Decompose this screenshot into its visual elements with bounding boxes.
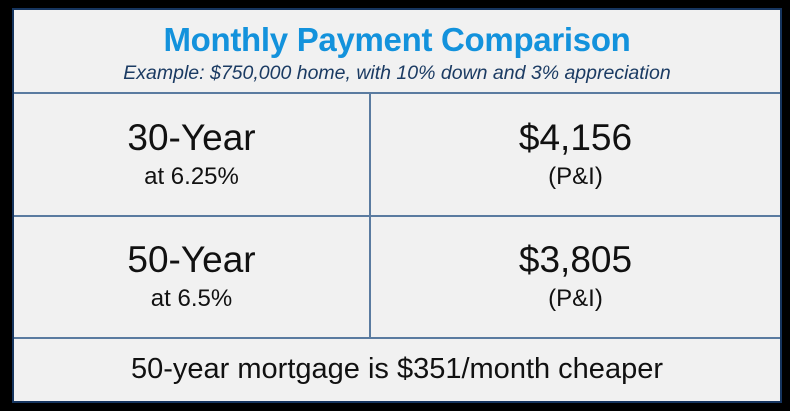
interest-rate-label: at 6.25% (144, 164, 239, 190)
table-row: 30-Year at 6.25% $4,156 (P&I) (14, 94, 780, 214)
infographic-root: Monthly Payment Comparison Example: $750… (0, 0, 790, 411)
loan-term-label: 30-Year (127, 119, 255, 158)
table-row: 50-Year at 6.5% $3,805 (P&I) (14, 215, 780, 337)
page-title: Monthly Payment Comparison (24, 22, 770, 58)
savings-summary: 50-year mortgage is $351/month cheaper (131, 354, 663, 386)
card-header: Monthly Payment Comparison Example: $750… (14, 10, 780, 92)
interest-rate-label: at 6.5% (151, 286, 232, 312)
page-subtitle: Example: $750,000 home, with 10% down an… (24, 62, 770, 84)
payment-cell-30-year: $4,156 (P&I) (369, 94, 780, 214)
term-cell-50-year: 50-Year at 6.5% (14, 217, 369, 337)
card-footer: 50-year mortgage is $351/month cheaper (14, 337, 780, 401)
monthly-payment-amount: $4,156 (519, 119, 632, 158)
payment-note-label: (P&I) (548, 164, 603, 190)
term-cell-30-year: 30-Year at 6.25% (14, 94, 369, 214)
loan-term-label: 50-Year (127, 241, 255, 280)
comparison-card: Monthly Payment Comparison Example: $750… (12, 8, 782, 403)
payment-cell-50-year: $3,805 (P&I) (369, 217, 780, 337)
payment-note-label: (P&I) (548, 286, 603, 312)
monthly-payment-amount: $3,805 (519, 241, 632, 280)
comparison-table: 30-Year at 6.25% $4,156 (P&I) 50-Year at… (14, 92, 780, 337)
